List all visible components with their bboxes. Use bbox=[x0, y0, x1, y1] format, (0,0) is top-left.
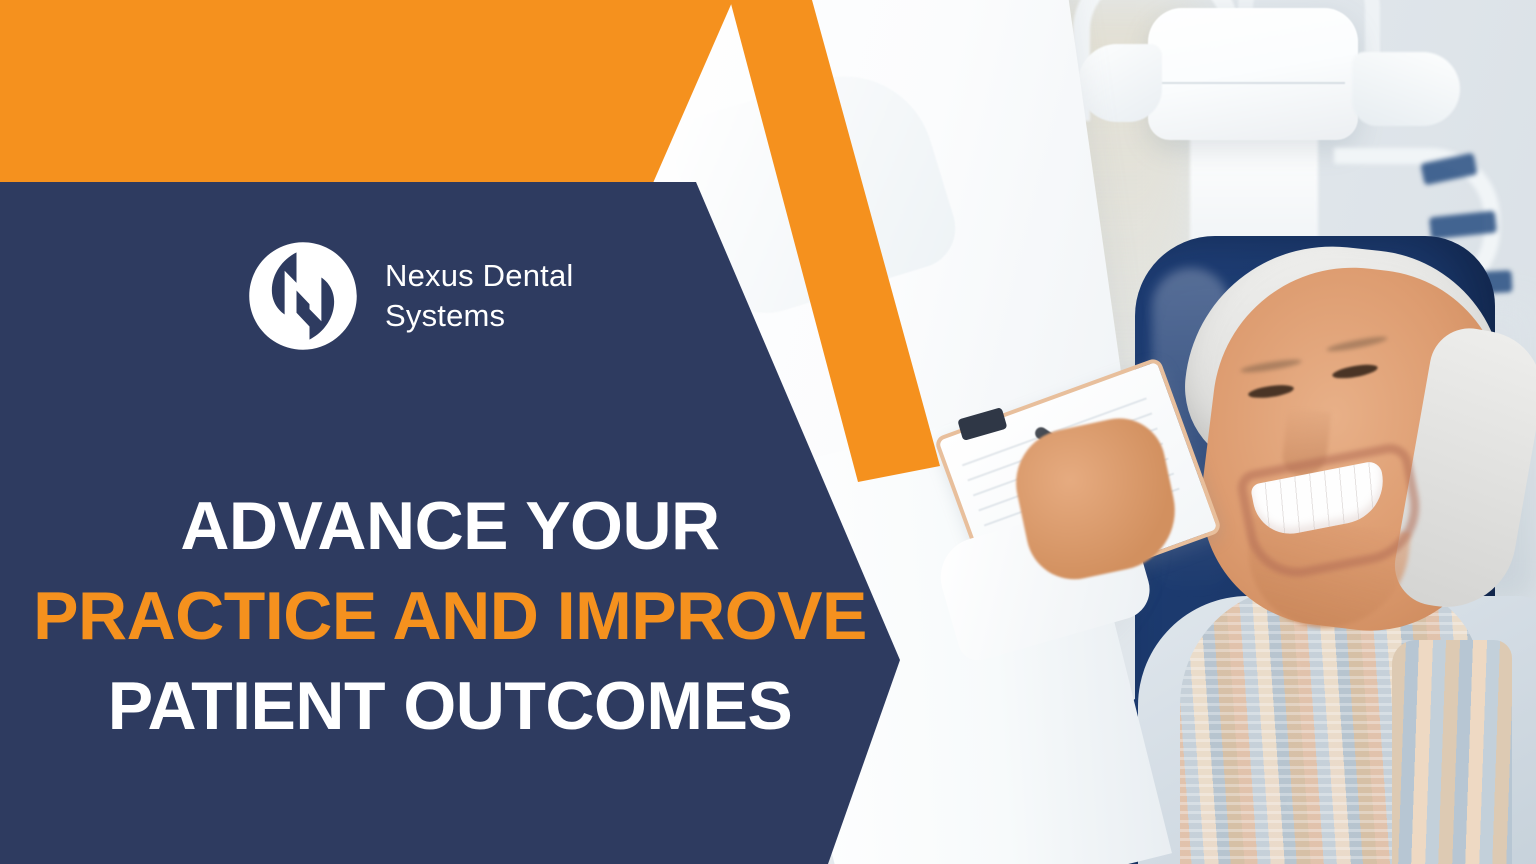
banner-content: Nexus Dental Systems ADVANCE YOUR PRACTI… bbox=[0, 182, 900, 864]
brand-name-line2: Systems bbox=[385, 296, 574, 336]
headline-line-1: ADVANCE YOUR bbox=[0, 482, 900, 572]
patient-knit-scarf-tail bbox=[1392, 640, 1512, 864]
headline-line-2: PRACTICE AND IMPROVE bbox=[0, 572, 900, 662]
orange-top-band bbox=[0, 0, 733, 183]
headline-line-3: PATIENT OUTCOMES bbox=[0, 662, 900, 752]
brand-lockup[interactable]: Nexus Dental Systems bbox=[247, 240, 574, 352]
headline: ADVANCE YOUR PRACTICE AND IMPROVE PATIEN… bbox=[0, 482, 900, 751]
brand-name-line1: Nexus Dental bbox=[385, 256, 574, 296]
nexus-circular-n-monogram-icon bbox=[247, 240, 359, 352]
operatory-light-handle-left bbox=[1078, 44, 1162, 122]
marketing-banner: Nexus Dental Systems ADVANCE YOUR PRACTI… bbox=[0, 0, 1536, 864]
brand-name: Nexus Dental Systems bbox=[385, 256, 574, 335]
